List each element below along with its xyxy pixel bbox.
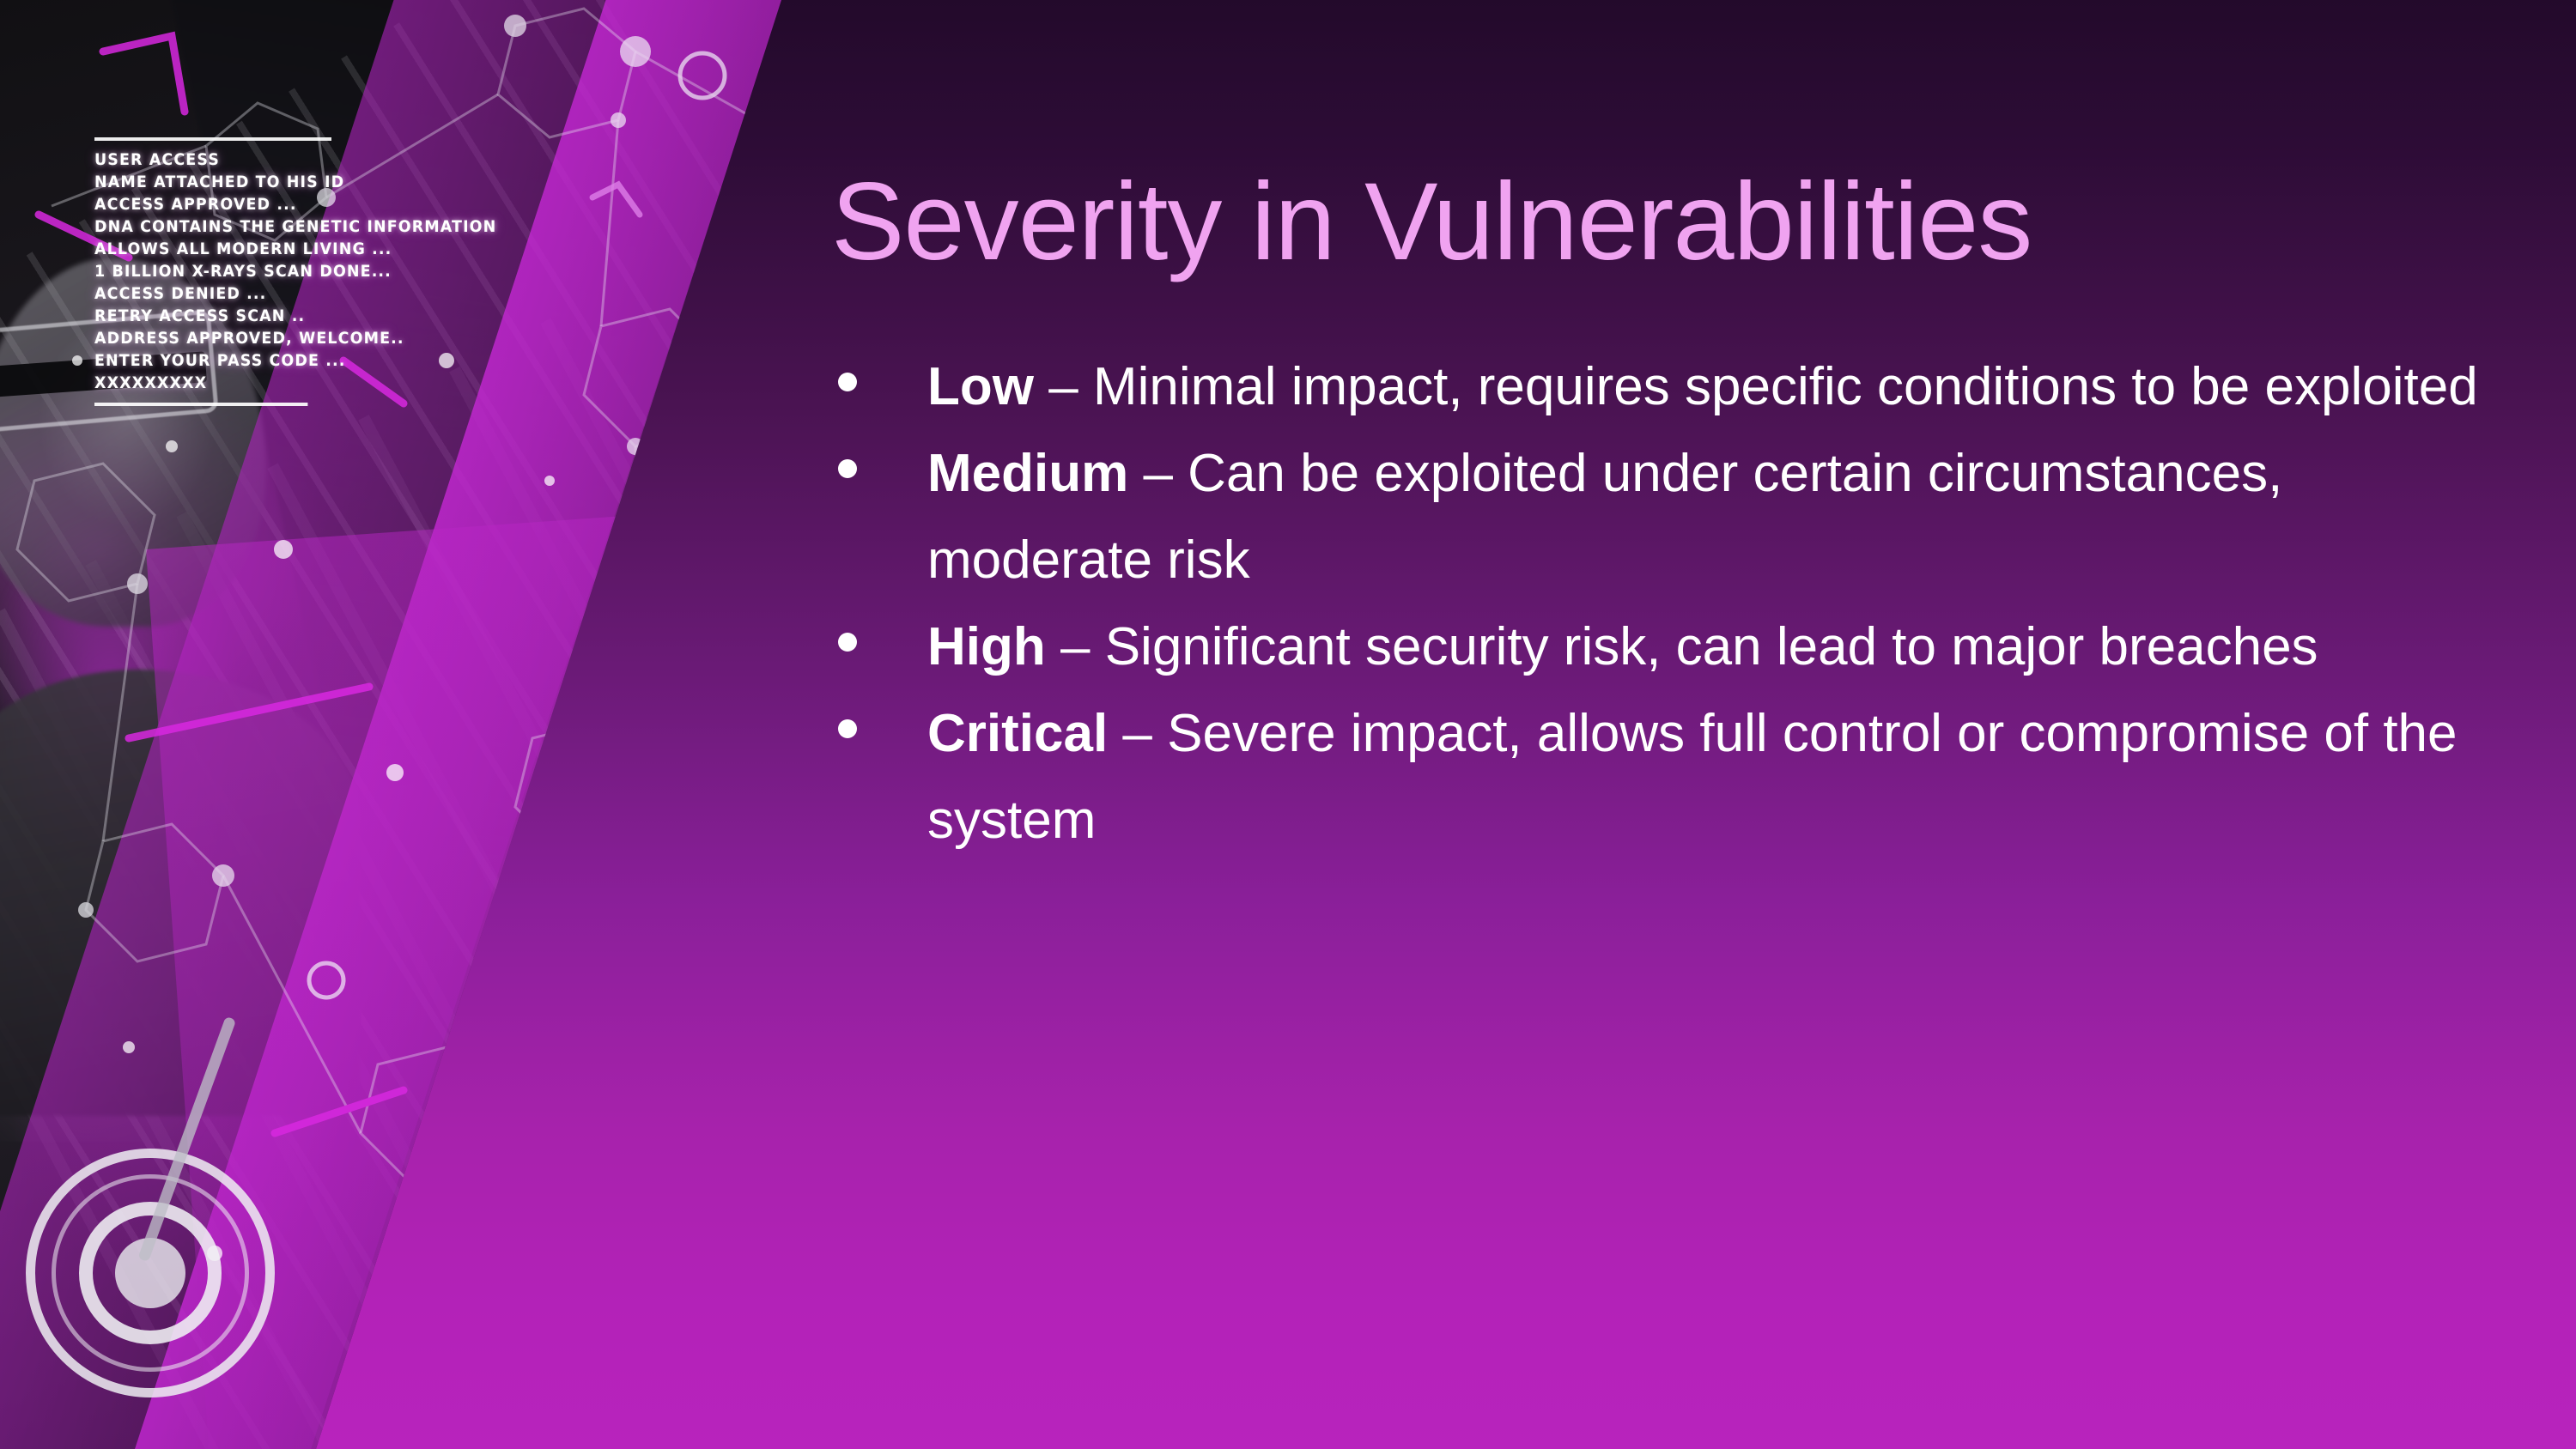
bullet-point-icon (838, 459, 857, 478)
terminal-line: Enter your pass code ... (94, 349, 434, 372)
bullet-content: Medium – Can be exploited under certain … (927, 430, 2514, 603)
severity-term: High (927, 617, 1046, 676)
bullet-content: Low – Minimal impact, requires specific … (927, 343, 2514, 430)
list-item: High – Significant security risk, can le… (831, 603, 2514, 690)
terminal-readout: User Access Name attached to his ID Acce… (94, 137, 434, 406)
bullet-point-icon (838, 633, 857, 652)
list-item: Low – Minimal impact, requires specific … (831, 343, 2514, 430)
terminal-line: xxxxxxxxx (94, 372, 434, 394)
bullet-list: Low – Minimal impact, requires specific … (831, 343, 2514, 864)
severity-term: Medium (927, 444, 1128, 503)
terminal-line: Access denied ... (94, 282, 434, 305)
slide-title: Severity in Vulnerabilities (831, 163, 2514, 282)
terminal-line: Name attached to his ID (94, 171, 434, 193)
bullet-point-icon (838, 373, 857, 391)
terminal-line: User Access (94, 149, 434, 171)
terminal-line: Retry access scan .. (94, 305, 434, 327)
terminal-line: Allows all modern living ... (94, 238, 434, 260)
terminal-rule-bottom (94, 403, 307, 406)
severity-dash: – (1108, 704, 1167, 763)
bullet-point-icon (838, 719, 857, 738)
terminal-line: DNA contains the genetic information (94, 215, 434, 238)
terminal-rule-top (94, 137, 331, 141)
bullet-content: High – Significant security risk, can le… (927, 603, 2514, 690)
severity-description: Significant security risk, can lead to m… (1105, 617, 2318, 676)
list-item: Critical – Severe impact, allows full co… (831, 690, 2514, 864)
bullet-content: Critical – Severe impact, allows full co… (927, 690, 2514, 864)
radar-target-icon (26, 1149, 275, 1397)
severity-dash: – (1034, 357, 1093, 416)
severity-term: Critical (927, 704, 1108, 763)
terminal-line: 1 billion x-rays scan done... (94, 260, 434, 282)
severity-dash: – (1046, 617, 1105, 676)
cyber-hacker-image: User Access Name attached to his ID Acce… (0, 0, 824, 1449)
severity-dash: – (1128, 444, 1188, 503)
presentation-slide: User Access Name attached to his ID Acce… (0, 0, 2576, 1449)
terminal-line: Address approved, welcome.. (94, 327, 434, 349)
list-item: Medium – Can be exploited under certain … (831, 430, 2514, 603)
terminal-line: Access approved ... (94, 193, 434, 215)
severity-term: Low (927, 357, 1034, 416)
severity-description: Minimal impact, requires specific condit… (1093, 357, 2478, 416)
